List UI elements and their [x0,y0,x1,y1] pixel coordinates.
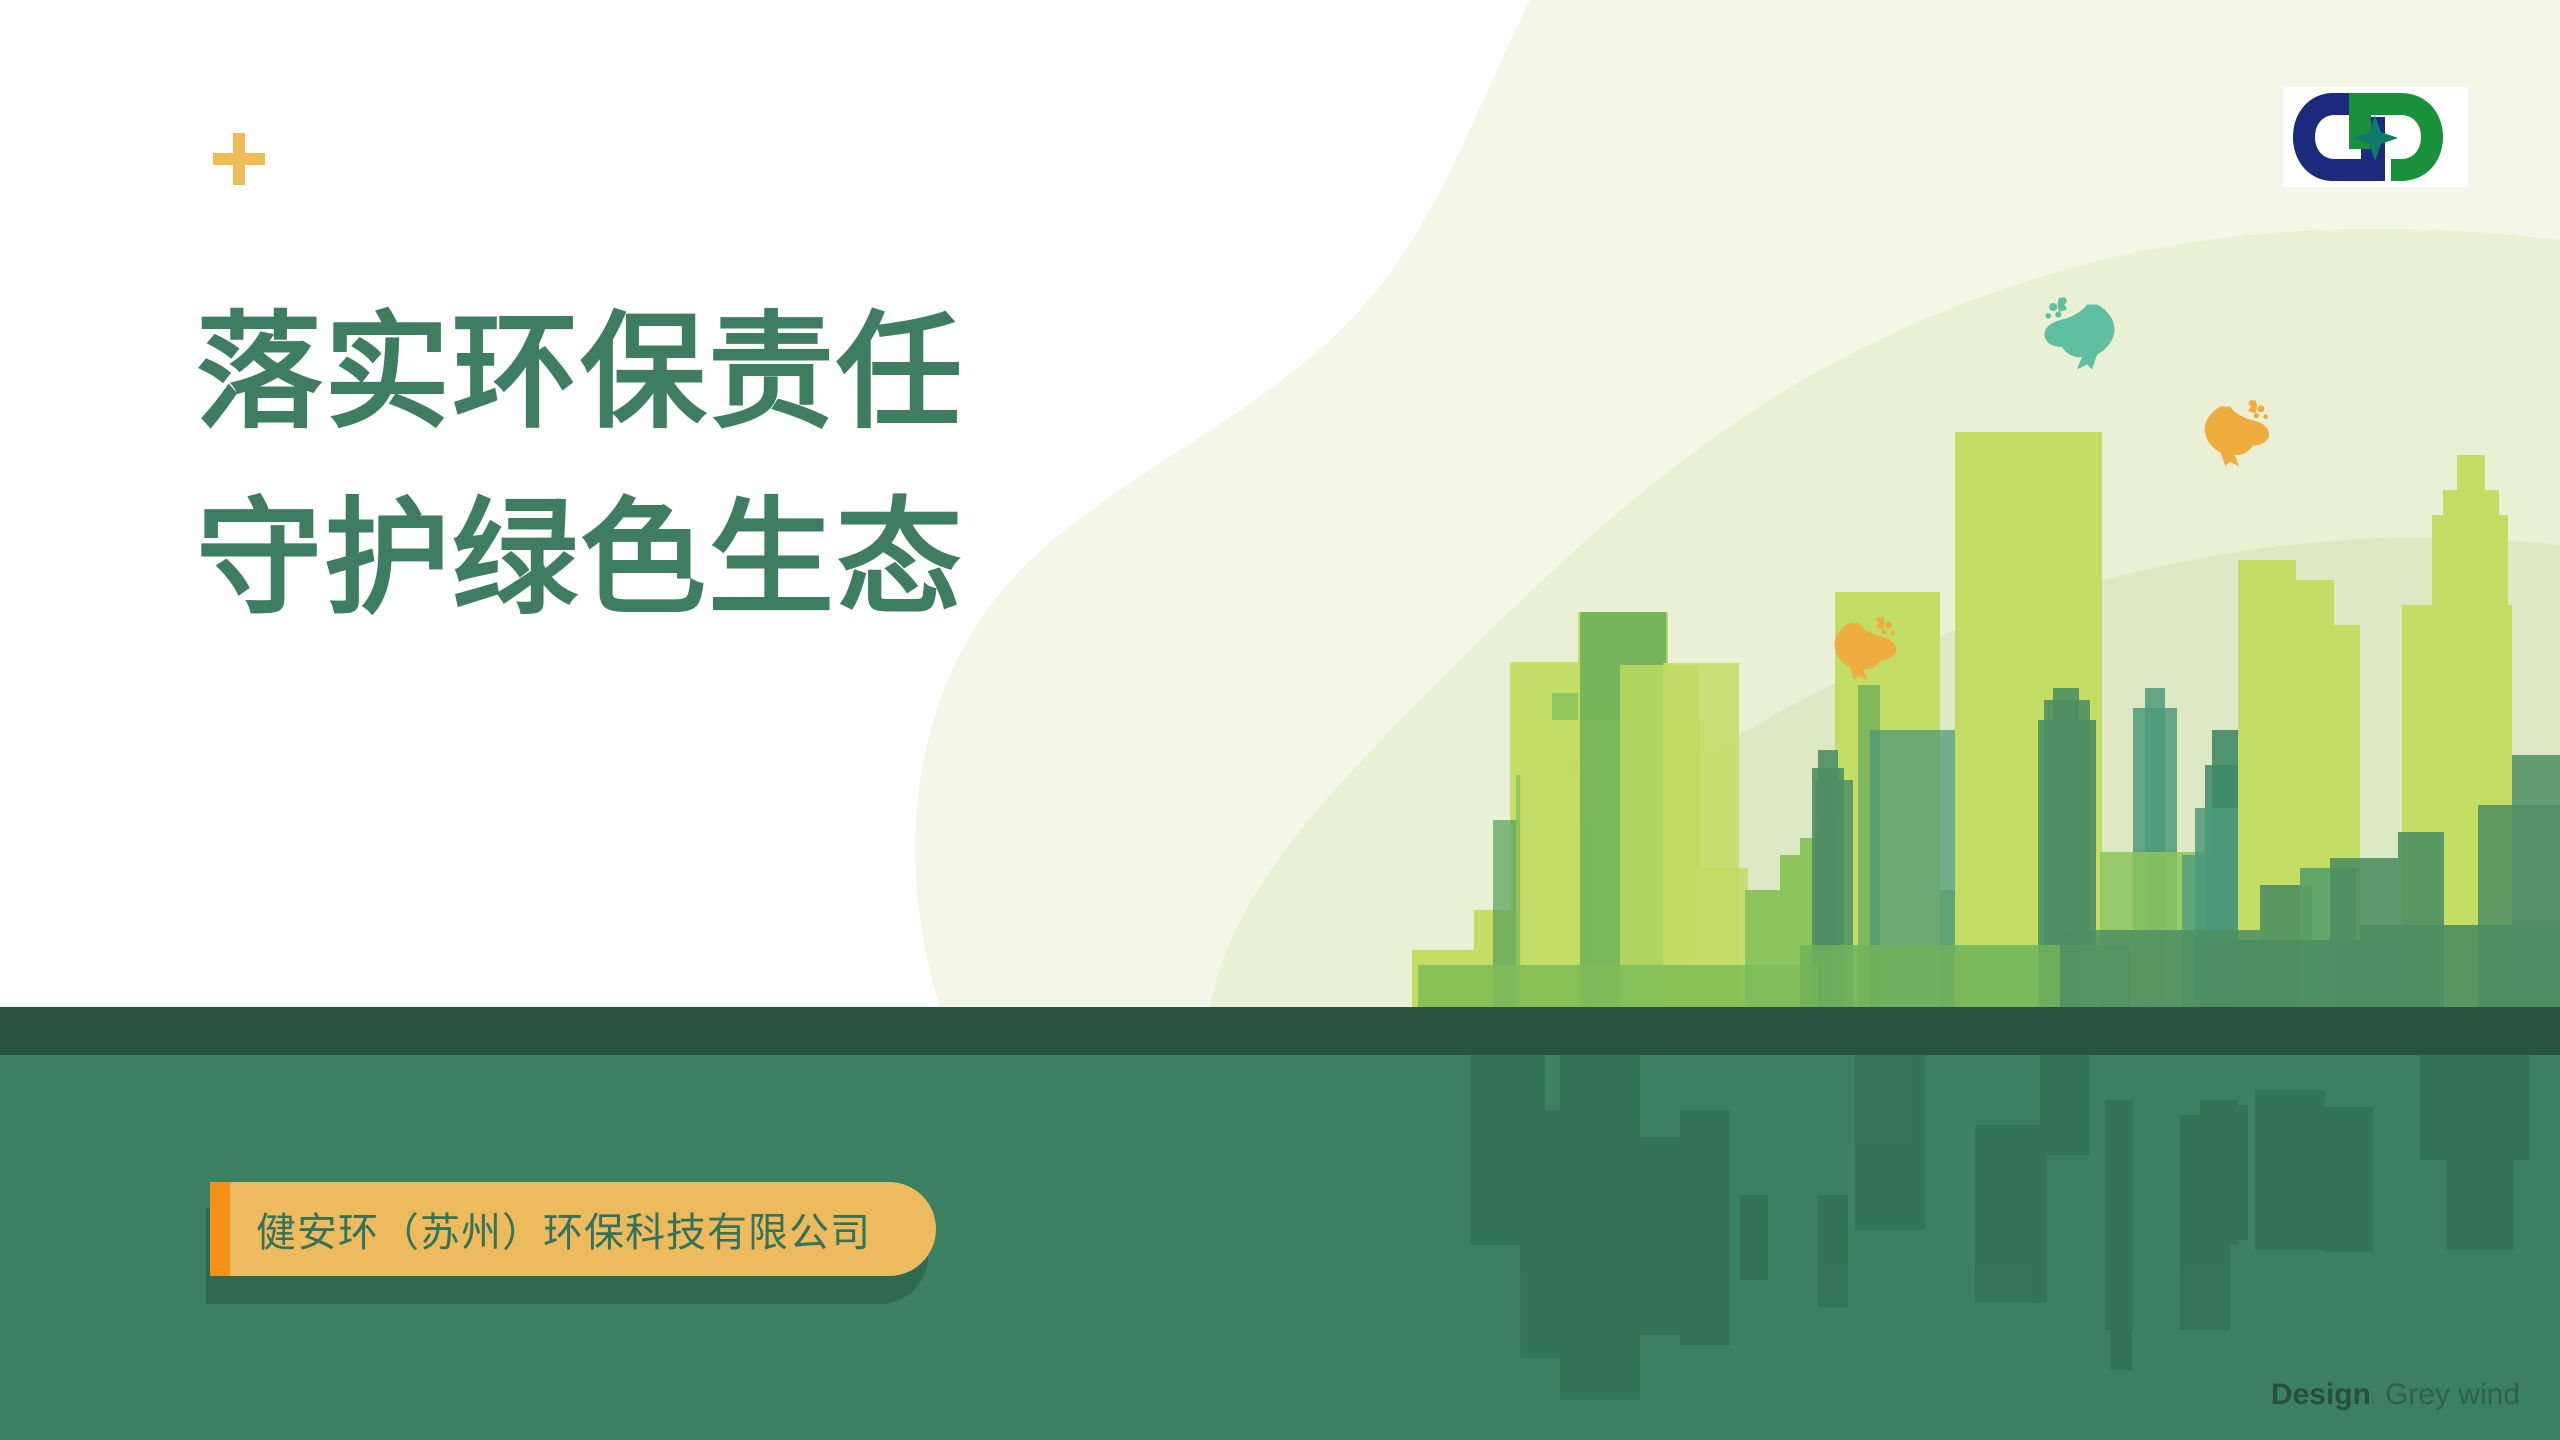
badge-body[interactable]: 健安环（苏州）环保科技有限公司 [210,1182,936,1276]
cover-slide: 落实环保责任 守护绿色生态 健安环（苏州）环保科技有限公司 Design Gre… [0,0,2560,1440]
company-name-badge[interactable]: 健安环（苏州）环保科技有限公司 [210,1182,936,1276]
badge-accent-bar [210,1182,230,1276]
design-credit: Design Grey wind [2271,1378,2520,1412]
dove-orange-lower-icon [1834,616,1896,680]
dove-orange-upper-icon [2205,400,2269,467]
credit-label: Design [2271,1378,2371,1412]
page-title: 落实环保责任 守护绿色生态 [196,310,964,622]
title-line-1: 落实环保责任 [196,310,964,436]
dove-teal-icon [2045,297,2115,370]
company-name-label: 健安环（苏州）环保科技有限公司 [256,1200,871,1258]
credit-name: Grey wind [2385,1378,2520,1412]
title-line-2: 守护绿色生态 [196,496,964,622]
